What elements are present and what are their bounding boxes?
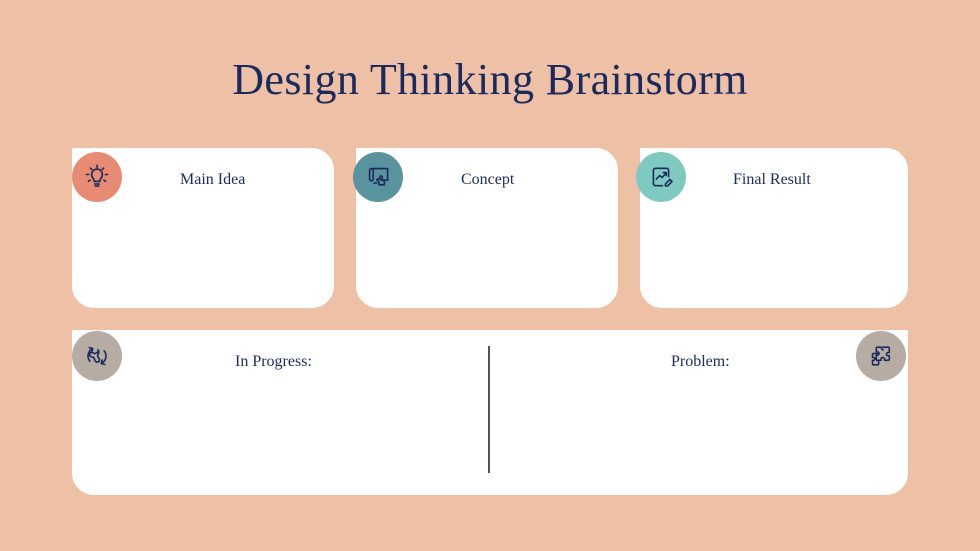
blueprint-hand-icon [364,163,392,191]
card-label-problem: Problem: [671,353,730,371]
puzzle-pieces-icon [867,342,895,370]
refresh-cycle-icon [83,342,111,370]
badge-main-idea [72,152,122,202]
badge-problem [856,331,906,381]
page-title: Design Thinking Brainstorm [0,54,980,105]
card-label-final-result: Final Result [733,171,811,189]
slide-canvas: Design Thinking Brainstorm Main Idea Con… [0,0,980,551]
badge-in-progress [72,331,122,381]
badge-final-result [636,152,686,202]
vertical-divider [488,346,490,473]
card-label-in-progress: In Progress: [235,353,312,371]
lightbulb-icon [83,163,111,191]
card-label-main-idea: Main Idea [180,171,245,189]
chart-document-icon [647,163,675,191]
card-label-concept: Concept [461,171,514,189]
card-progress-problem[interactable] [72,330,908,495]
badge-concept [353,152,403,202]
